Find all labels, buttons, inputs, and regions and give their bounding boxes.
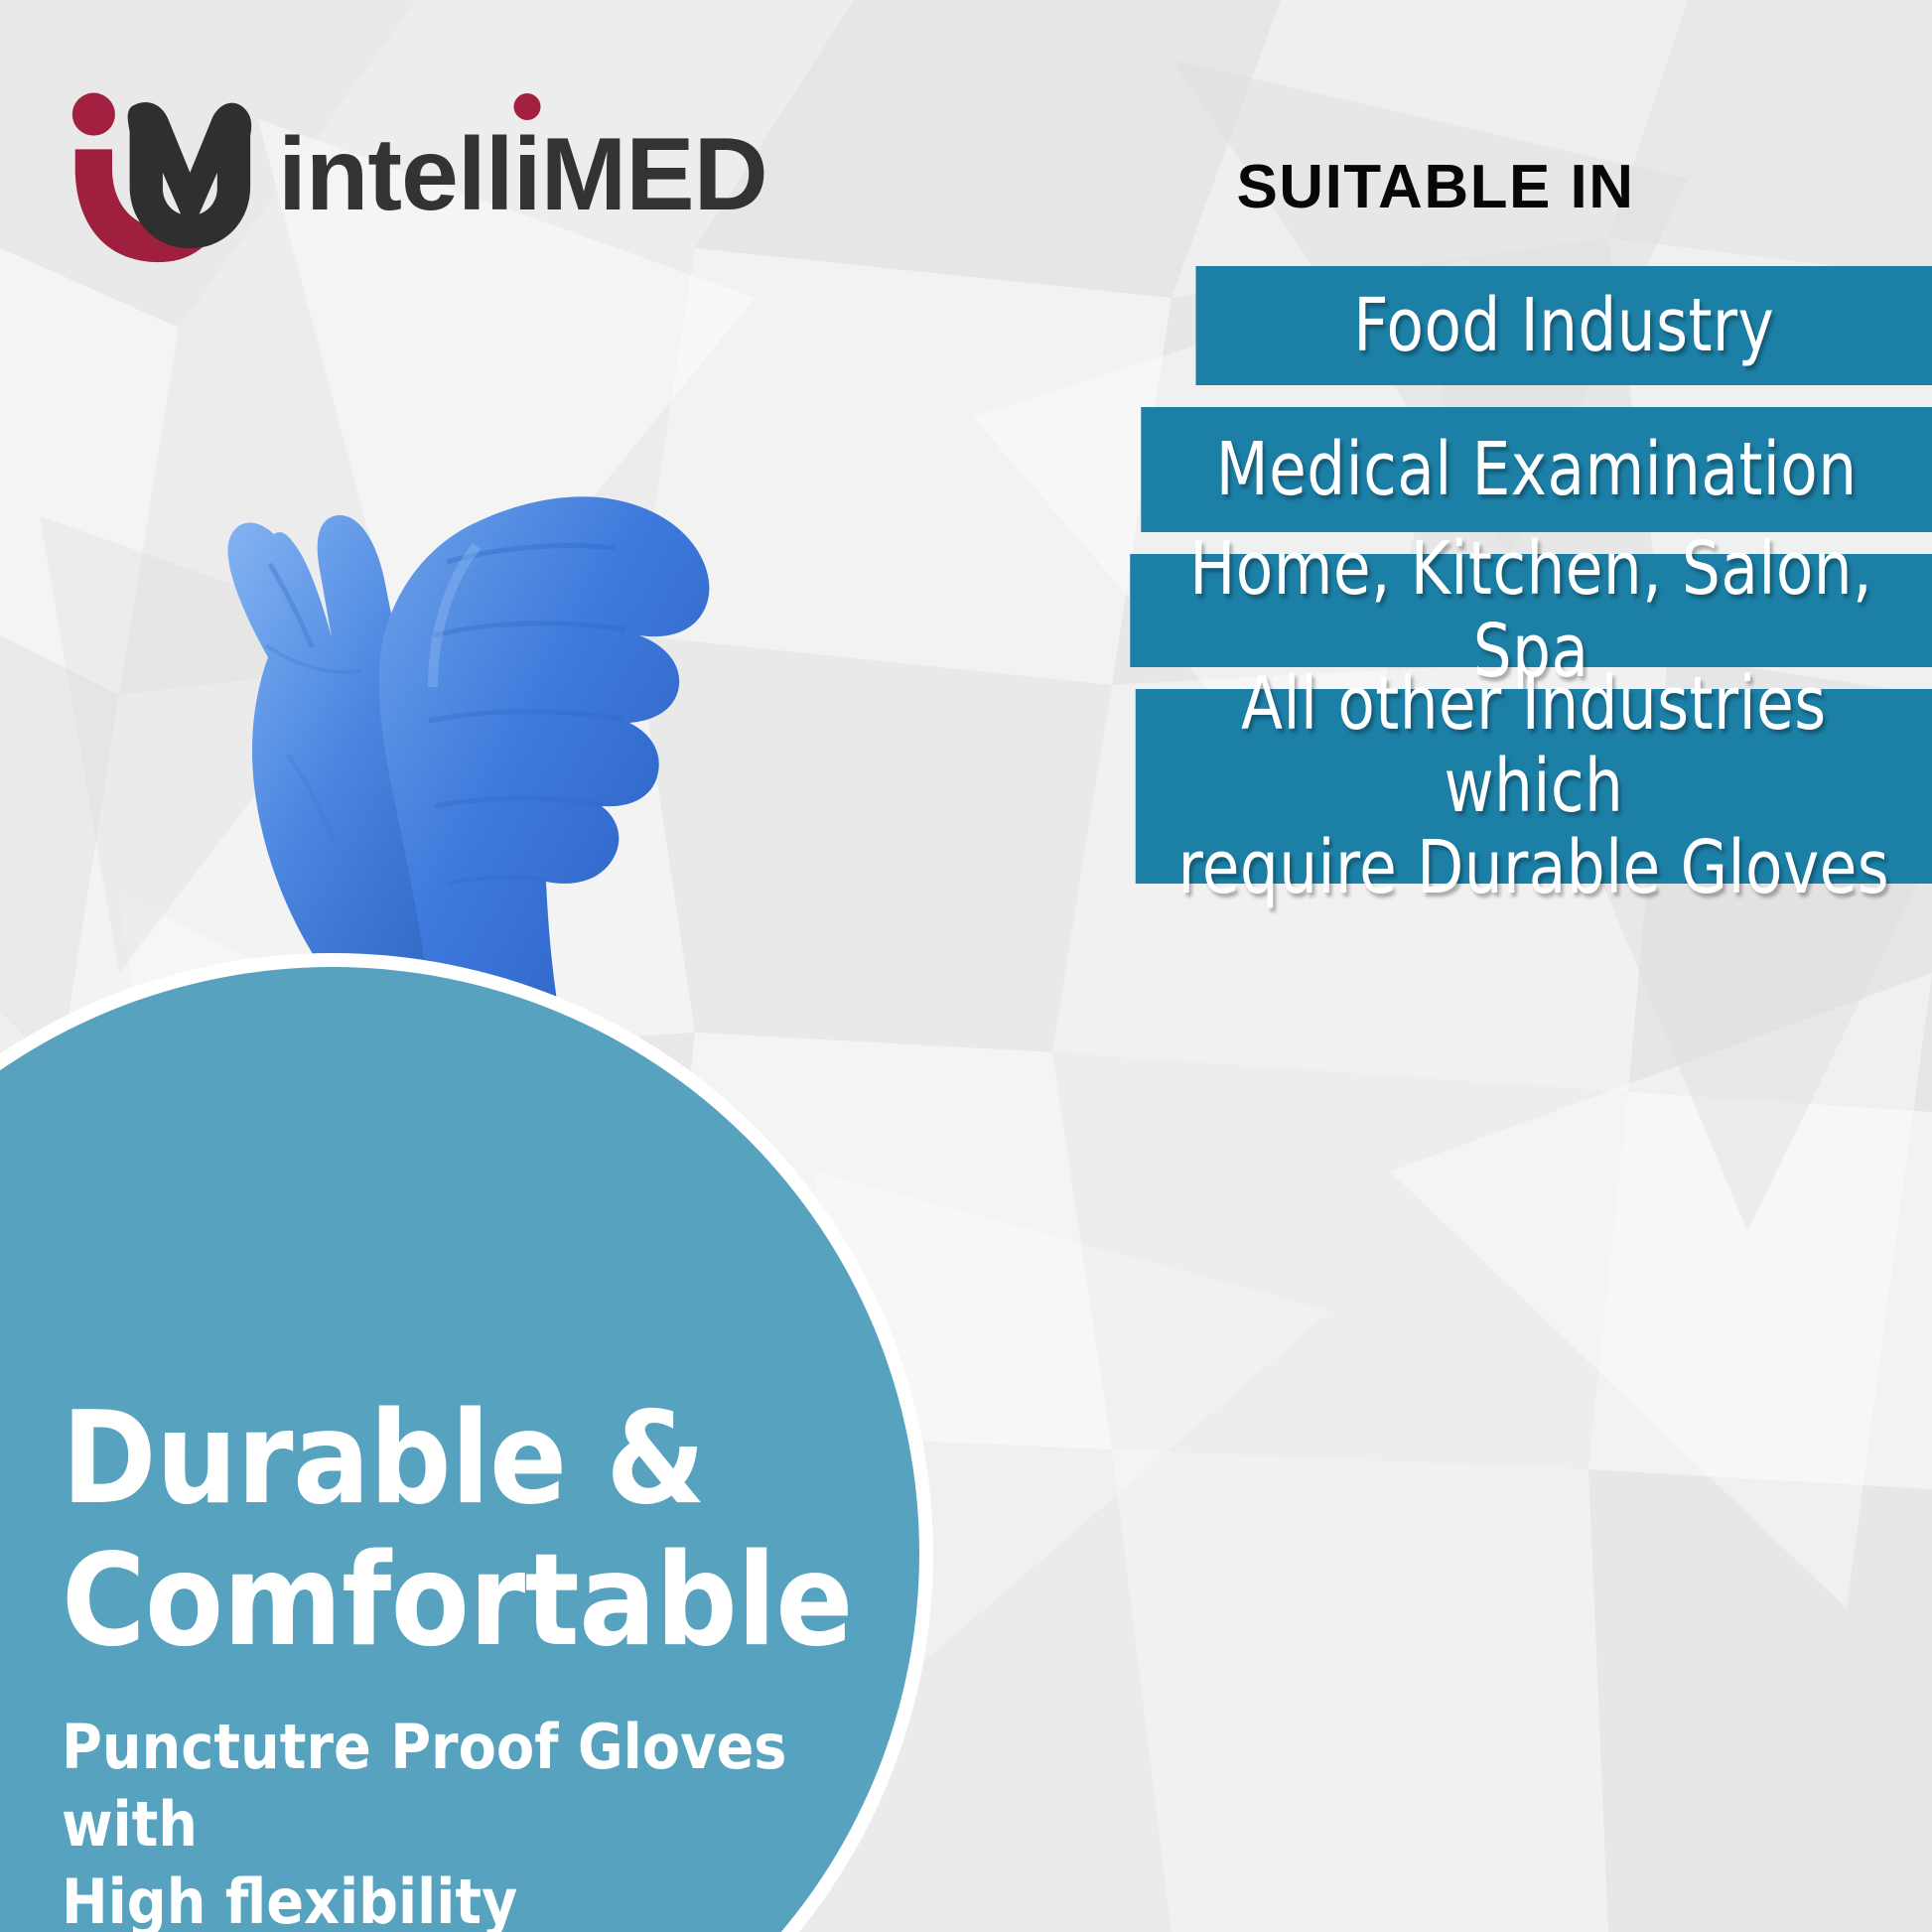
product-poster: intelliMED SUITABLE IN Food Industry Med… xyxy=(0,0,1932,1932)
suitable-item-medical-examination: Medical Examination xyxy=(1141,407,1932,532)
suitable-item-label: All other Industries which require Durab… xyxy=(1152,663,1915,910)
promo-content: Durable & Comfortable Punctutre Proof Gl… xyxy=(62,1388,896,1932)
brand-wordmark: intelliMED xyxy=(278,123,767,226)
suitable-item-food-industry: Food Industry xyxy=(1195,266,1932,385)
promo-headline: Durable & Comfortable xyxy=(62,1388,896,1673)
wordmark-i-dotted: i xyxy=(513,123,541,226)
suitable-item-label: Medical Examination xyxy=(1216,429,1858,511)
wordmark-med: MED xyxy=(541,123,767,226)
suitable-item-home-kitchen-salon-spa: Home, Kitchen, Salon, Spa xyxy=(1130,554,1932,667)
promo-subline: Punctutre Proof Gloves with High flexibi… xyxy=(62,1709,896,1932)
suitable-item-label: Food Industry xyxy=(1353,285,1774,367)
wordmark-i-dot-icon xyxy=(513,93,540,120)
intellimed-logo-mark-icon xyxy=(62,71,256,266)
suitable-in-heading: SUITABLE IN xyxy=(999,157,1872,218)
suitable-in-list: Food Industry Medical Examination Home, … xyxy=(1060,266,1932,884)
suitable-item-all-other-industries: All other Industries which require Durab… xyxy=(1136,689,1932,884)
wordmark-intell: intell xyxy=(278,123,513,226)
brand-logo: intelliMED xyxy=(62,71,767,266)
